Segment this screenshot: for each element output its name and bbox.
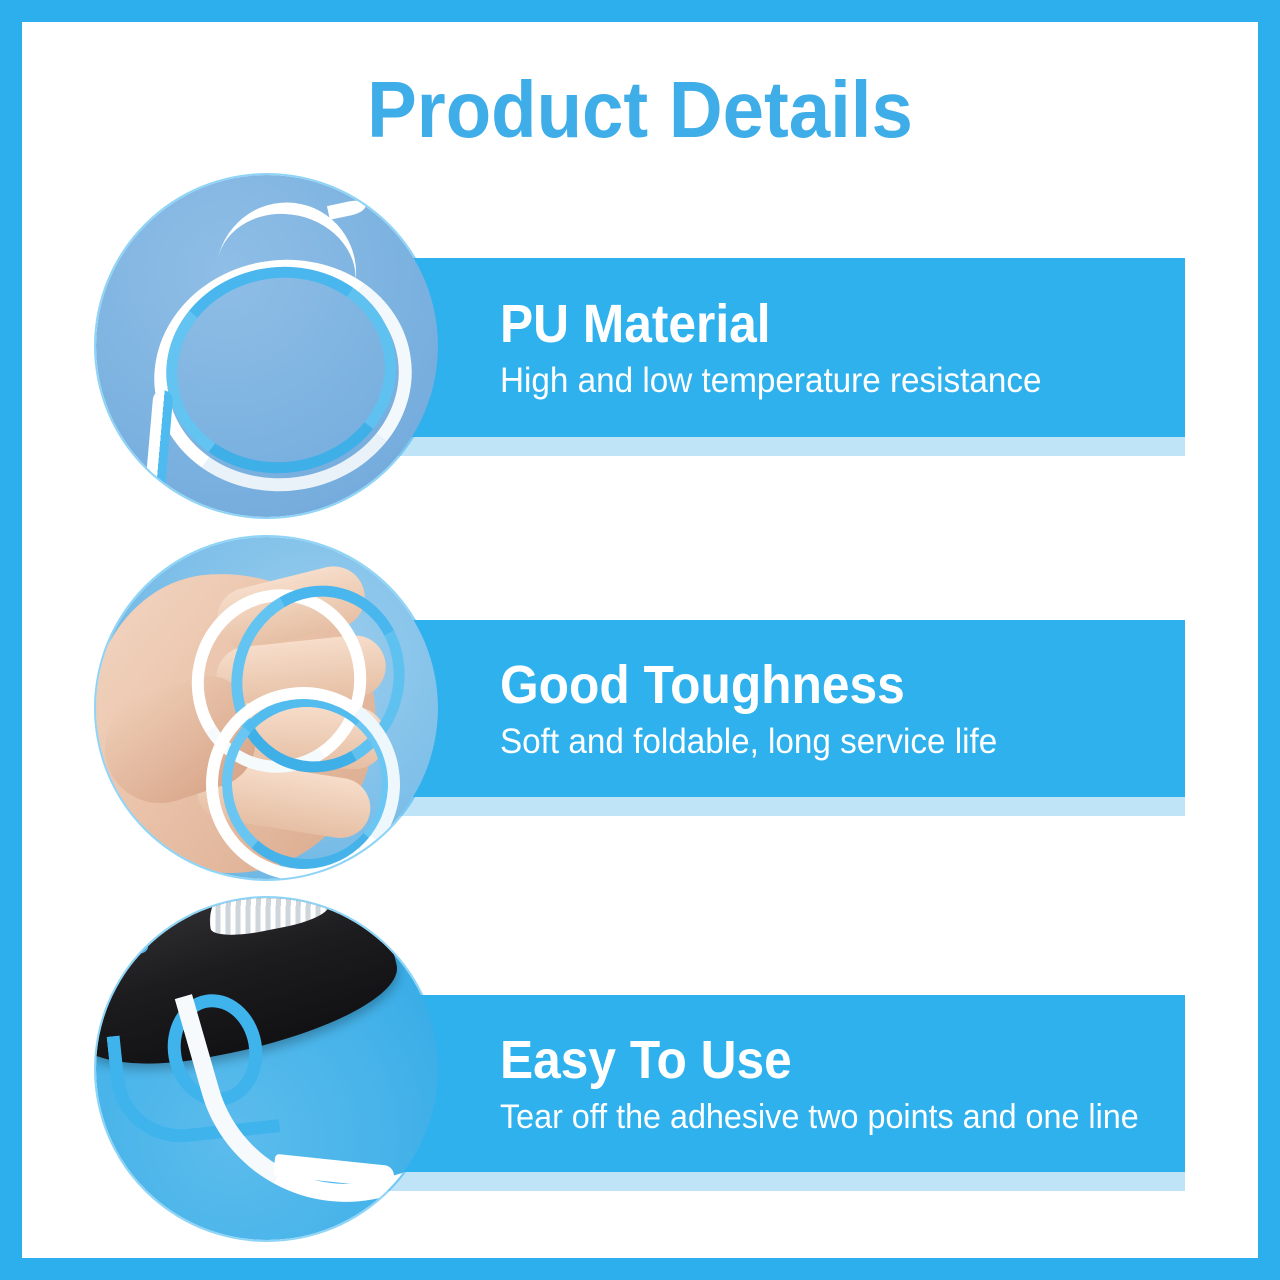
frame-border-bottom [0,1258,1280,1280]
frame-border-left [0,0,22,1280]
feature-title-1: PU Material [500,294,771,354]
feature-text-block-3: Easy To Use Tear off the adhesive two po… [500,995,1185,1172]
feature-text-block-1: PU Material High and low temperature res… [500,258,1185,437]
feature-subtitle-1: High and low temperature resistance [500,360,1042,402]
frame-border-right [1258,0,1280,1280]
feature-photo-3 [96,898,438,1240]
feature-photo-1 [96,175,438,517]
feature-row-3: Easy To Use Tear off the adhesive two po… [0,898,1280,1243]
shoe-sole-application-image [96,898,438,1240]
shoe-accent-dot [126,940,148,954]
feature-photo-2 [96,537,438,879]
feature-title-3: Easy To Use [500,1030,792,1090]
feature-row-2: Good Toughness Soft and foldable, long s… [0,537,1280,882]
hand-holding-strip-image [96,537,438,879]
pu-strip-coil-image [96,175,438,517]
frame-border-top [0,0,1280,22]
feature-subtitle-2: Soft and foldable, long service life [500,721,997,763]
feature-subtitle-3: Tear off the adhesive two points and one… [500,1096,1139,1138]
page-title: Product Details [45,66,1235,154]
feature-row-1: PU Material High and low temperature res… [0,175,1280,520]
feature-text-block-2: Good Toughness Soft and foldable, long s… [500,620,1185,797]
product-details-infographic: Product Details PU Material High and low… [0,0,1280,1280]
feature-title-2: Good Toughness [500,655,905,715]
